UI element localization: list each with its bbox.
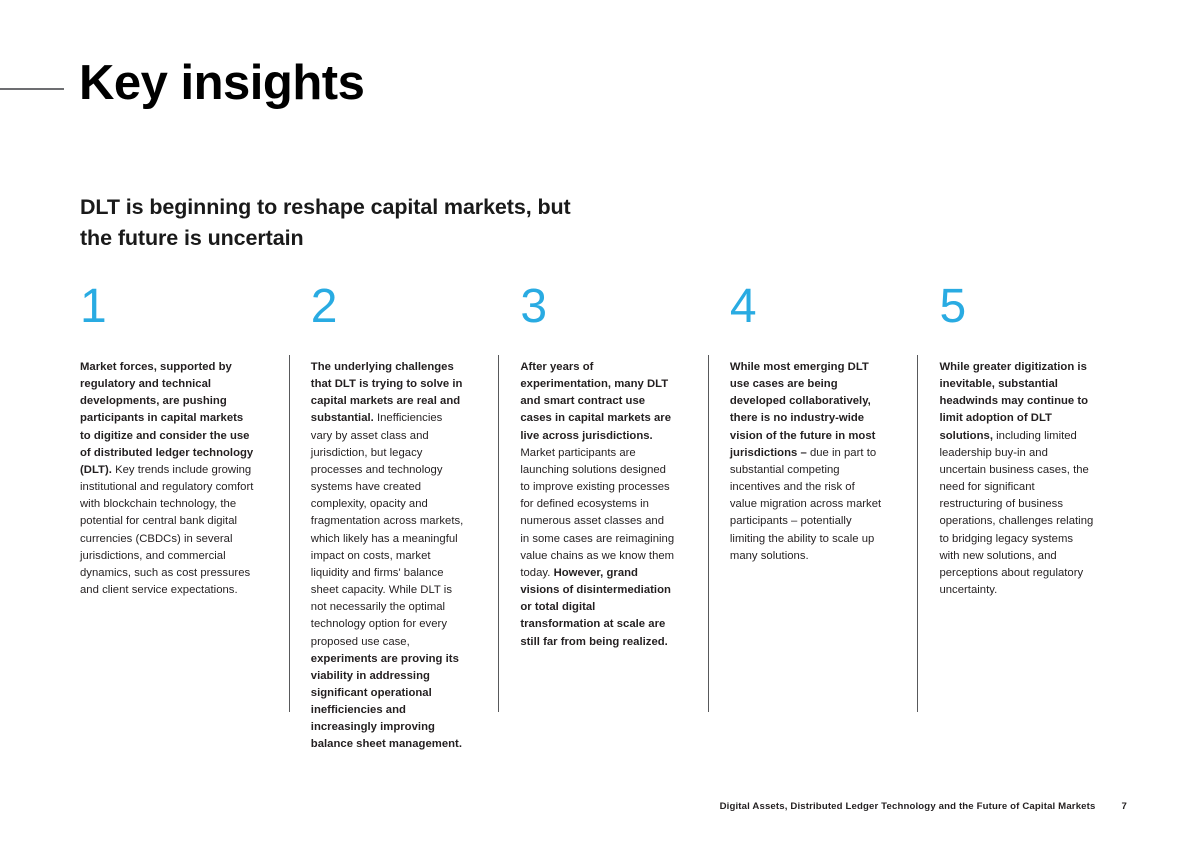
insight-lead-1: Market forces, supported by regulatory a… (80, 361, 253, 476)
insight-body-3: After years of experimentation, many DLT… (520, 359, 675, 651)
column-divider-1 (289, 355, 290, 712)
insights-columns: 1 Market forces, supported by regulatory… (80, 283, 1127, 754)
insight-body-1: Market forces, supported by regulatory a… (80, 359, 256, 599)
insight-body-2: The underlying challenges that DLT is tr… (311, 359, 466, 754)
insight-rest-4: due in part to substantial competing inc… (730, 447, 881, 562)
insight-column-1: 1 Market forces, supported by regulatory… (80, 283, 289, 754)
insight-column-4: 4 While most emerging DLT use cases are … (708, 283, 918, 754)
footer-source-text: Digital Assets, Distributed Ledger Techn… (720, 801, 1096, 812)
insight-body-5: While greater digitization is inevitable… (939, 359, 1094, 599)
insight-number-2: 2 (311, 283, 466, 331)
column-divider-3 (708, 355, 709, 712)
insight-number-1: 1 (80, 283, 256, 331)
page-title: Key insights (79, 58, 364, 109)
insight-column-2: 2 The underlying challenges that DLT is … (289, 283, 499, 754)
insight-rest-5: including limited leadership buy-in and … (939, 430, 1093, 596)
insight-number-3: 3 (520, 283, 675, 331)
insight-number-4: 4 (730, 283, 885, 331)
insight-column-3: 3 After years of experimentation, many D… (498, 283, 708, 754)
insight-column-5: 5 While greater digitization is inevitab… (917, 283, 1127, 754)
page-subtitle: DLT is beginning to reshape capital mark… (80, 192, 600, 253)
insight-lead-4: While most emerging DLT use cases are be… (730, 361, 876, 459)
insight-number-5: 5 (939, 283, 1094, 331)
insight-lead-3: After years of experimentation, many DLT… (520, 361, 671, 442)
insight-rest-1: Key trends include growing institutional… (80, 464, 253, 596)
column-divider-2 (498, 355, 499, 712)
title-accent-rule (0, 88, 64, 90)
insight-tail-2: experiments are proving its viability in… (311, 653, 462, 751)
insight-rest-3: Market participants are launching soluti… (520, 447, 674, 579)
column-divider-4 (917, 355, 918, 712)
page-footer: Digital Assets, Distributed Ledger Techn… (720, 801, 1127, 812)
insight-body-4: While most emerging DLT use cases are be… (730, 359, 885, 565)
footer-page-number: 7 (1122, 801, 1128, 812)
insight-rest-2: Inefficiencies vary by asset class and j… (311, 412, 464, 647)
